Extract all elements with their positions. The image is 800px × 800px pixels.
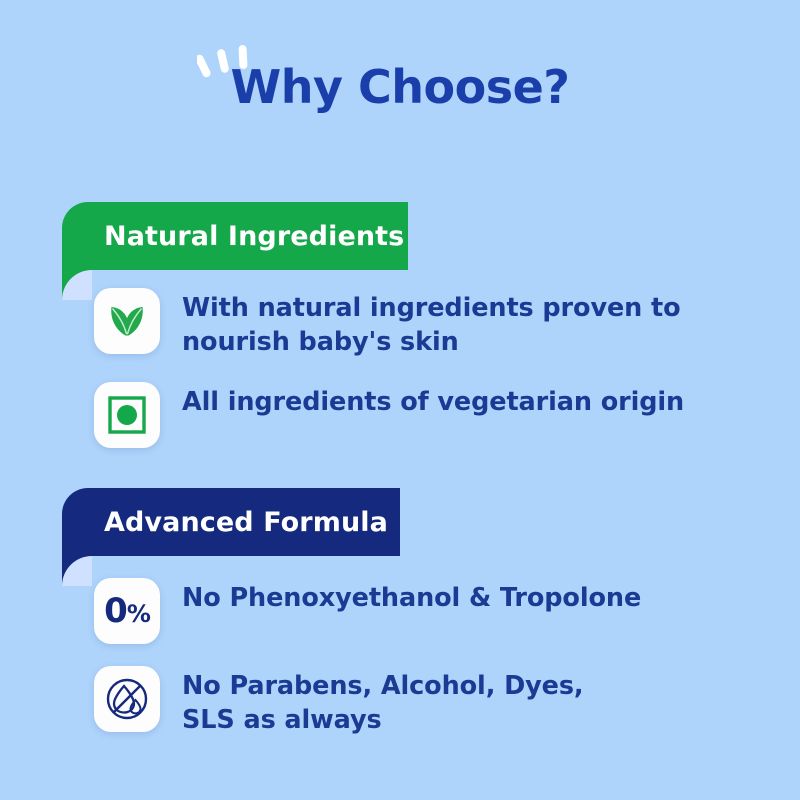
page-title-text: Why Choose? [231, 60, 570, 114]
feature-text: All ingredients of vegetarian origin [182, 382, 684, 420]
ribbon-tail [62, 556, 92, 586]
feature-row: All ingredients of vegetarian origin [94, 382, 760, 448]
ribbon-tail [62, 270, 92, 300]
section-banner-natural-label: Natural Ingredients [104, 221, 404, 252]
feature-text-line-1: No Parabens, Alcohol, Dyes, [182, 671, 584, 701]
zero-percent-number: 0 [104, 591, 127, 631]
feature-row: With natural ingredients proven to nouri… [94, 288, 760, 360]
sparkle-marks-icon [197, 42, 259, 84]
section-banner-natural: Natural Ingredients [62, 202, 408, 270]
feature-text-line-2: SLS as always [182, 705, 382, 735]
page-title-container: Why Choose? [0, 62, 800, 113]
feature-group-advanced: 0% No Phenoxyethanol & Tropolone No Para… [94, 578, 760, 760]
feature-row: 0% No Phenoxyethanol & Tropolone [94, 578, 760, 644]
section-banner-advanced: Advanced Formula [62, 488, 400, 556]
leaves-icon [105, 299, 149, 343]
feature-group-natural: With natural ingredients proven to nouri… [94, 288, 760, 470]
vegetarian-mark-icon-tile [94, 382, 160, 448]
zero-percent-icon: 0% [104, 594, 150, 628]
zero-percent-symbol: % [127, 600, 150, 628]
vegetarian-mark-icon [106, 394, 148, 436]
feature-text: No Phenoxyethanol & Tropolone [182, 578, 641, 616]
feature-text: No Parabens, Alcohol, Dyes, SLS as alway… [182, 666, 584, 738]
page-title: Why Choose? [231, 62, 570, 113]
no-liquid-icon-tile [94, 666, 160, 732]
feature-row: No Parabens, Alcohol, Dyes, SLS as alway… [94, 666, 760, 738]
zero-percent-icon-tile: 0% [94, 578, 160, 644]
leaves-icon-tile [94, 288, 160, 354]
no-liquid-icon [104, 676, 150, 722]
feature-text: With natural ingredients proven to nouri… [182, 288, 760, 360]
why-choose-poster: Why Choose? Natural Ingredients With nat… [0, 0, 800, 800]
section-banner-advanced-label: Advanced Formula [104, 507, 388, 538]
